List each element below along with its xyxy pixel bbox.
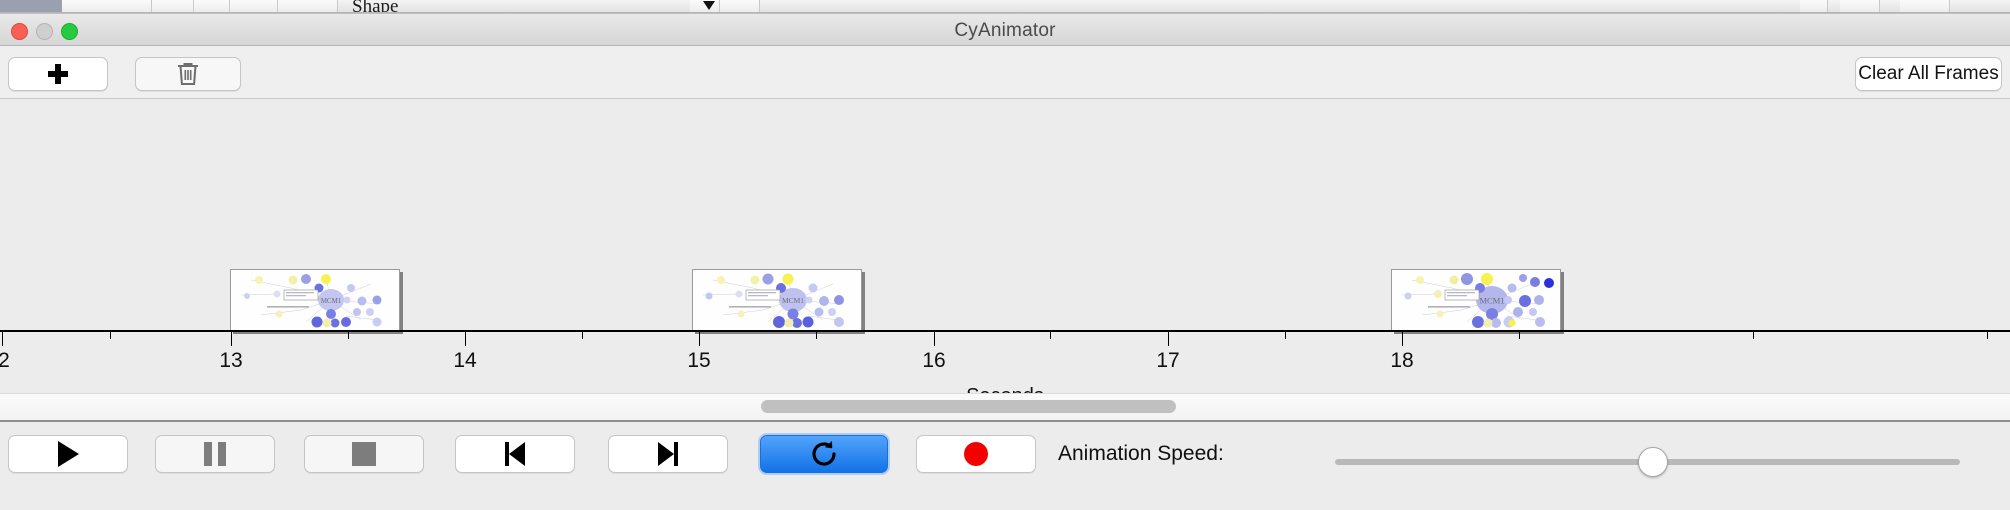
play-button[interactable] (8, 435, 128, 473)
background-window-strip: Shape (0, 0, 2010, 13)
axis-tick-label: 17 (1156, 349, 1179, 373)
background-tab (1900, 0, 1950, 13)
frame-node-label: MCM1 (782, 296, 804, 305)
scrollbar-thumb[interactable] (761, 400, 1176, 413)
background-tab (194, 0, 230, 13)
axis-tick-major (2, 332, 3, 346)
background-window-label: Shape (352, 0, 398, 13)
stop-icon (352, 442, 376, 466)
skip-forward-icon (658, 442, 678, 466)
axis-tick-label: 2 (0, 349, 10, 373)
pause-button[interactable] (155, 435, 275, 473)
loop-icon (809, 439, 839, 469)
background-tab (1840, 0, 1880, 13)
slider-thumb[interactable] (1638, 447, 1668, 477)
frame-thumbnail-1[interactable]: MCM1 (230, 269, 400, 331)
animation-speed-label: Animation Speed: (1058, 442, 1224, 466)
add-frame-button[interactable] (8, 57, 108, 91)
background-window-sidebar (0, 0, 62, 12)
axis-tick-label: 14 (453, 349, 476, 373)
background-tab (720, 0, 760, 13)
background-tab (230, 0, 278, 13)
axis-tick-major (231, 332, 232, 346)
axis-tick-minor (348, 332, 349, 339)
play-icon (58, 441, 79, 467)
skip-forward-button[interactable] (608, 435, 728, 473)
axis-tick-minor (1285, 332, 1286, 339)
timeline-panel[interactable]: MCM1 (0, 99, 2010, 393)
axis-tick-label: 13 (219, 349, 242, 373)
axis-tick-minor (1987, 332, 1988, 339)
axis-tick-minor (1519, 332, 1520, 339)
axis-tick-major (934, 332, 935, 346)
skip-back-icon (505, 442, 525, 466)
timeline-axis (0, 330, 2010, 332)
loop-button[interactable] (760, 435, 888, 473)
record-button[interactable] (916, 435, 1036, 473)
background-tab (1800, 0, 1828, 13)
axis-tick-minor (816, 332, 817, 339)
axis-tick-label: 15 (687, 349, 710, 373)
pause-icon (204, 442, 226, 466)
background-caret-icon (703, 1, 715, 10)
axis-tick-minor (582, 332, 583, 339)
axis-tick-major (699, 332, 700, 346)
axis-tick-major (1168, 332, 1169, 346)
background-tab (62, 0, 152, 13)
axis-tick-minor (1050, 332, 1051, 339)
axis-tick-major (465, 332, 466, 346)
axis-tick-label: 16 (922, 349, 945, 373)
window-titlebar: CyAnimator (0, 14, 2010, 46)
animation-speed-slider[interactable] (1335, 452, 1960, 472)
stop-button[interactable] (304, 435, 424, 473)
playback-toolbar: Animation Speed: (0, 420, 2010, 505)
delete-frame-button[interactable] (135, 57, 241, 91)
axis-tick-major (1402, 332, 1403, 346)
frame-thumbnail-3[interactable]: MCM1 (1391, 269, 1561, 331)
frame-node-label: MCM1 (321, 297, 342, 305)
background-tab (278, 0, 338, 13)
skip-back-button[interactable] (455, 435, 575, 473)
clear-all-frames-button[interactable]: Clear All Frames (1855, 57, 2002, 91)
axis-title: Seconds (0, 385, 2010, 393)
plus-icon (47, 63, 69, 85)
axis-tick-label: 18 (1390, 349, 1413, 373)
window-title: CyAnimator (0, 20, 2010, 42)
timeline-scrollbar[interactable] (0, 393, 2010, 420)
axis-tick-minor (1753, 332, 1754, 339)
frame-node-label: MCM1 (1479, 296, 1504, 306)
axis-tick-minor (110, 332, 111, 339)
record-icon (964, 442, 988, 466)
trash-icon (175, 60, 201, 88)
frame-toolbar: Clear All Frames (0, 46, 2010, 99)
cyanimator-window: CyAnimator Clear All Frames (0, 13, 2010, 510)
background-tab (152, 0, 194, 13)
frame-thumbnail-2[interactable]: MCM1 (692, 269, 862, 331)
